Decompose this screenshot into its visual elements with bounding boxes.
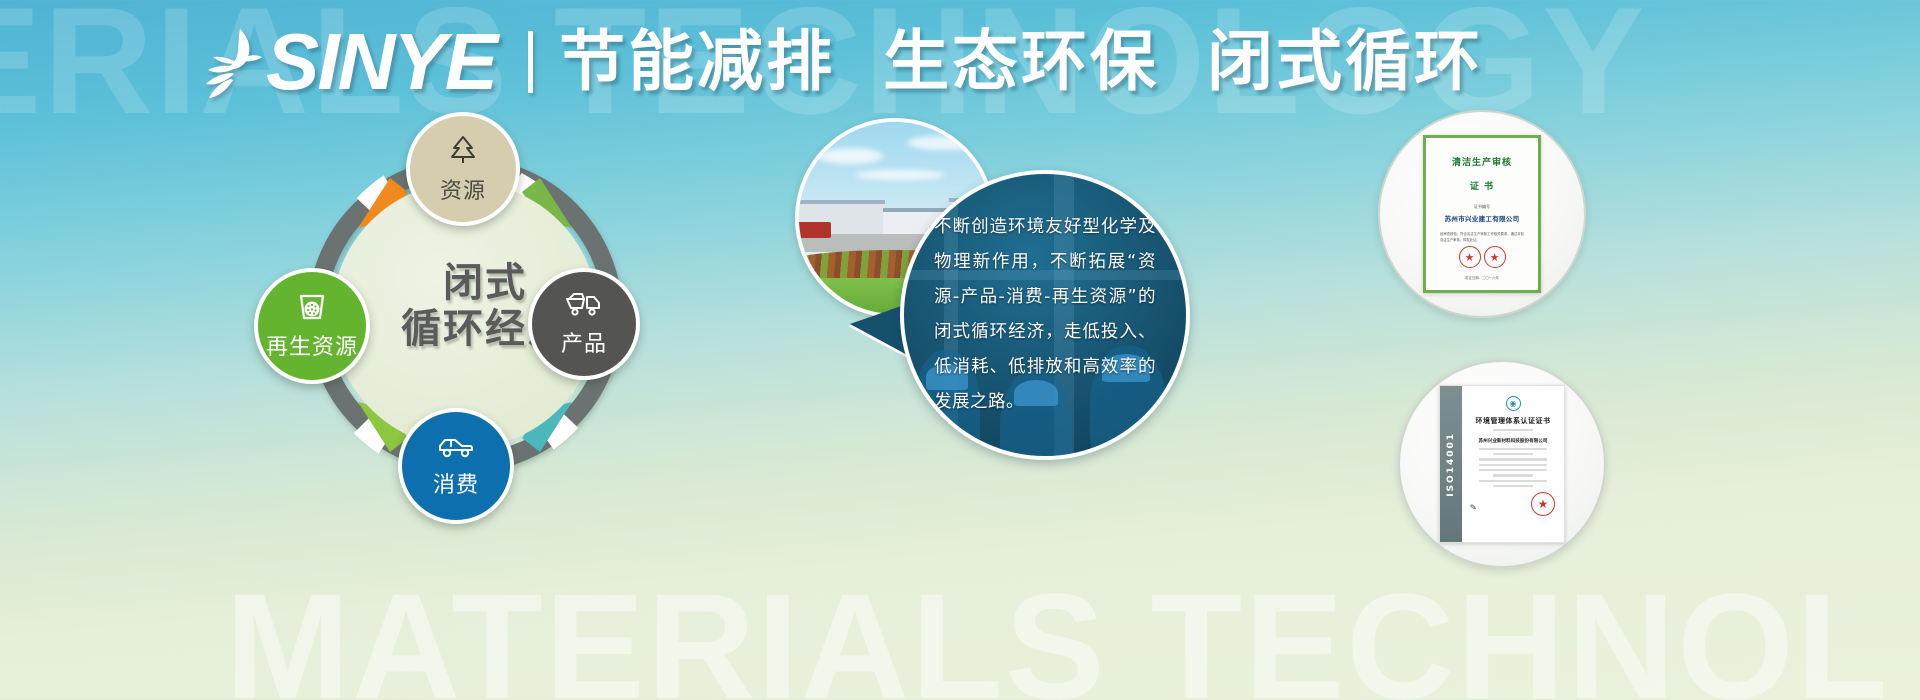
quote-text: 不断创造环境友好型化学及物理新作用，不断拓展“资源-产品-消费-再生资源”的闭式…	[904, 174, 1186, 456]
node-label-recycle: 再生资源	[266, 329, 358, 361]
text-line	[1493, 474, 1533, 476]
red-stamp-icon: ★	[1484, 246, 1506, 268]
node-label-product: 产品	[561, 326, 607, 358]
cloud-shape	[817, 148, 883, 164]
text-line	[1479, 480, 1547, 482]
certificate-clean-production[interactable]: 清洁生产审核 证 书 证书编号 苏州市兴业建工有限公司 经审查核验，符合清洁生产…	[1378, 110, 1586, 318]
brand-name: SINYE	[266, 22, 496, 102]
brand-logo: SINYE	[200, 22, 496, 102]
truck-shape	[797, 222, 831, 238]
slogan-part-3: 闭式循环	[1207, 23, 1483, 100]
iso-side-label: ISO14001	[1440, 386, 1462, 542]
node-label-resource: 资源	[440, 173, 486, 205]
certificate-company: 苏州兴业新材料科技股份有限公司	[1469, 438, 1557, 444]
car-icon	[436, 434, 476, 464]
diagram-node-product[interactable]: 产品	[528, 268, 640, 380]
iso-side-label-text: ISO14001	[1446, 432, 1456, 497]
tree-icon	[446, 134, 480, 170]
certificate-body-area: ◉ 环境管理体系认证证书 苏州兴业新材料科技股份有限公司 ✎ ★	[1462, 386, 1564, 542]
closed-loop-diagram: 闭式 循环经济 资源	[270, 120, 660, 510]
text-line	[1479, 458, 1547, 460]
recycle-bin-icon	[295, 292, 329, 326]
certificate-title: 环境管理体系认证证书	[1469, 416, 1557, 426]
slogan-part-1: 节能减排	[559, 23, 835, 100]
header-slogan: 节能减排 生态环保 闭式循环	[559, 29, 1483, 95]
slogan-part-2: 生态环保	[883, 23, 1159, 100]
text-line	[1493, 485, 1533, 487]
node-label-consume: 消费	[433, 467, 479, 499]
leaf-swirl-icon	[200, 23, 272, 101]
certificate-iso14001[interactable]: ISO14001 ◉ 环境管理体系认证证书 苏州兴业新材料科技股份有限公司 ✎ …	[1398, 360, 1606, 568]
cart-truck-icon	[565, 291, 603, 323]
signature-mark: ✎	[1469, 503, 1477, 513]
text-line	[1493, 429, 1533, 431]
red-stamp-icon: ★	[1459, 246, 1481, 268]
certificate-paper: 清洁生产审核 证 书 证书编号 苏州市兴业建工有限公司 经审查核验，符合清洁生产…	[1423, 135, 1541, 293]
certificate-title-line2: 证 书	[1434, 181, 1530, 195]
diagram-node-consume[interactable]: 消费	[398, 408, 514, 524]
quote-bubble-wrap: 不断创造环境友好型化学及物理新作用，不断拓展“资源-产品-消费-再生资源”的闭式…	[860, 170, 1190, 500]
watermark-bottom: MATERIALS TECHNOL	[225, 560, 1889, 700]
text-line	[1479, 448, 1547, 450]
header-divider	[528, 31, 533, 93]
certificate-sub: 证书编号	[1434, 204, 1530, 210]
header-banner: SINYE 节能减排 生态环保 闭式循环	[200, 16, 1483, 108]
text-line	[1479, 469, 1547, 471]
certificate-stamps: ★ ★	[1426, 246, 1538, 268]
certificate-title-line1: 清洁生产审核	[1434, 157, 1530, 171]
certificate-body: 经审查核验，符合清洁生产审核工作相关要求，通过本轮清洁生产审核，特发此证。	[1434, 231, 1530, 244]
certificate-date: 发证日期：二〇一六年	[1426, 275, 1538, 280]
text-line	[1479, 464, 1547, 466]
text-line	[1493, 453, 1533, 455]
red-stamp-icon: ★	[1531, 492, 1555, 516]
diagram-node-resource[interactable]: 资源	[406, 112, 520, 226]
cloud-shape	[907, 136, 981, 150]
certificate-paper: ISO14001 ◉ 环境管理体系认证证书 苏州兴业新材料科技股份有限公司 ✎ …	[1439, 385, 1565, 543]
certificate-company: 苏州市兴业建工有限公司	[1434, 213, 1530, 223]
cnas-logo-icon: ◉	[1506, 396, 1521, 411]
diagram-node-recycle[interactable]: 再生资源	[254, 268, 370, 384]
quote-bubble: 不断创造环境友好型化学及物理新作用，不断拓展“资源-产品-消费-再生资源”的闭式…	[900, 170, 1190, 460]
